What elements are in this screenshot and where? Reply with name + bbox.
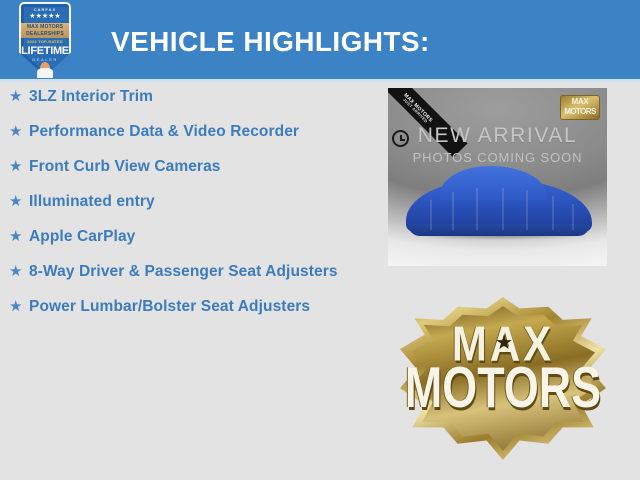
photo-headline: NEW ARRIVAL (388, 124, 607, 148)
car-cover-roof (440, 166, 546, 200)
car-fold (430, 200, 432, 230)
vehicle-highlights-list: ★ 3LZ Interior Trim ★ Performance Data &… (0, 86, 380, 331)
list-item: ★ Power Lumbar/Bolster Seat Adjusters (0, 296, 380, 317)
watermark-line2: MOTORS (561, 107, 599, 117)
star-bullet-icon: ★ (9, 226, 29, 247)
max-motors-dealer-logo[interactable]: MAX ★ MOTORS (400, 297, 606, 460)
badge-person-icon (40, 62, 50, 76)
badge-dealership-line1: MAX MOTORS (21, 23, 69, 31)
watermark-line1: MAX (561, 97, 599, 107)
highlight-label: 3LZ Interior Trim (29, 86, 359, 107)
highlight-label: Illuminated entry (29, 191, 359, 212)
list-item: ★ 8-Way Driver & Passenger Seat Adjuster… (0, 261, 380, 282)
page-title: VEHICLE HIGHLIGHTS: (111, 26, 430, 58)
list-item: ★ Performance Data & Video Recorder (0, 121, 380, 142)
badge-dealership-band: MAX MOTORS DEALERSHIPS (21, 23, 69, 38)
car-fold (476, 188, 478, 230)
carfax-lifetime-dealer-badge: CARFAX ★★★★★ MAX MOTORS DEALERSHIPS 2023… (19, 2, 71, 76)
badge-dealership-line2: DEALERSHIPS (21, 31, 69, 38)
photo-subline: PHOTOS COMING SOON (388, 150, 607, 165)
star-bullet-icon: ★ (9, 86, 29, 107)
vehicle-photo-placeholder[interactable]: MAX MOTORS JUST ARRIVED NEW ARRIVAL PHOT… (388, 88, 607, 266)
highlight-label: Power Lumbar/Bolster Seat Adjusters (29, 296, 359, 317)
car-fold (502, 188, 504, 230)
logo-text-motors: MOTORS (398, 360, 608, 417)
car-fold (452, 192, 454, 230)
star-bullet-icon: ★ (9, 156, 29, 177)
list-item: ★ Front Curb View Cameras (0, 156, 380, 177)
star-bullet-icon: ★ (9, 191, 29, 212)
badge-award-title: LIFETIME (19, 45, 71, 57)
car-fold (572, 204, 574, 230)
car-fold (526, 190, 528, 230)
max-motors-watermark: MAX MOTORS (560, 95, 600, 120)
highlight-label: Performance Data & Video Recorder (29, 121, 359, 142)
highlight-label: Front Curb View Cameras (29, 156, 359, 177)
highlight-label: Apple CarPlay (29, 226, 359, 247)
list-item: ★ Apple CarPlay (0, 226, 380, 247)
badge-stars-icon: ★★★★★ (19, 13, 71, 21)
list-item: ★ 3LZ Interior Trim (0, 86, 380, 107)
car-fold (552, 196, 554, 230)
star-bullet-icon: ★ (9, 121, 29, 142)
highlight-label: 8-Way Driver & Passenger Seat Adjusters (29, 261, 359, 282)
covered-car-illustration (406, 166, 592, 236)
star-bullet-icon: ★ (9, 296, 29, 317)
badge-award-year: 2023 TOP-RATED (19, 39, 71, 44)
page-header: CARFAX ★★★★★ MAX MOTORS DEALERSHIPS 2023… (0, 0, 640, 79)
header-divider (0, 79, 640, 82)
car-cover-drape (408, 224, 590, 236)
list-item: ★ Illuminated entry (0, 191, 380, 212)
star-bullet-icon: ★ (9, 261, 29, 282)
logo-star-icon: ★ (495, 333, 513, 353)
badge-carfax-brand: CARFAX (19, 7, 71, 12)
